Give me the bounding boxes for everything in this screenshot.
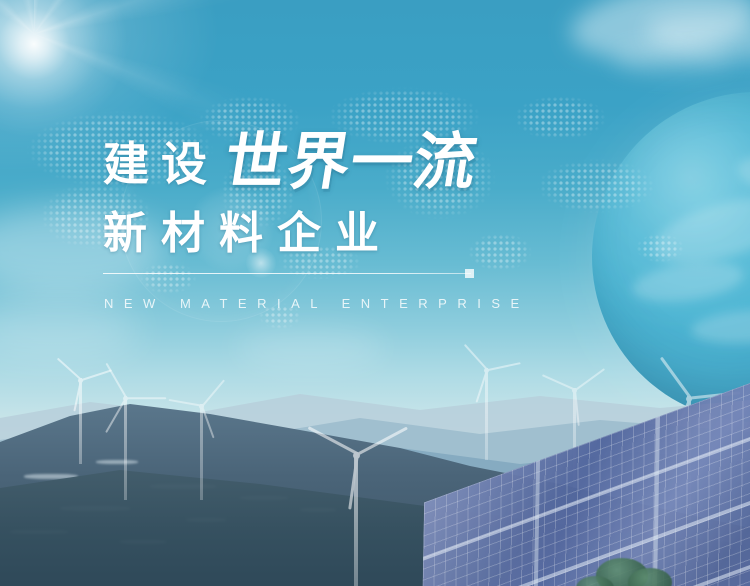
headline-secondary: 新材料企业 bbox=[103, 212, 393, 256]
headline-text-block: 建设 世界一流 新材料企业 NEW MATERIAL ENTERPRISE bbox=[0, 0, 750, 586]
divider-square-cap-icon bbox=[465, 269, 474, 278]
headline-primary-row: 建设 世界一流 bbox=[103, 133, 477, 187]
subtitle-english: NEW MATERIAL ENTERPRISE bbox=[104, 296, 530, 311]
hero-banner: 建设 世界一流 新材料企业 NEW MATERIAL ENTERPRISE bbox=[0, 0, 750, 586]
headline-prefix: 建设 bbox=[103, 141, 219, 187]
headline-accent: 世界一流 bbox=[220, 133, 481, 190]
headline-divider bbox=[103, 273, 471, 274]
